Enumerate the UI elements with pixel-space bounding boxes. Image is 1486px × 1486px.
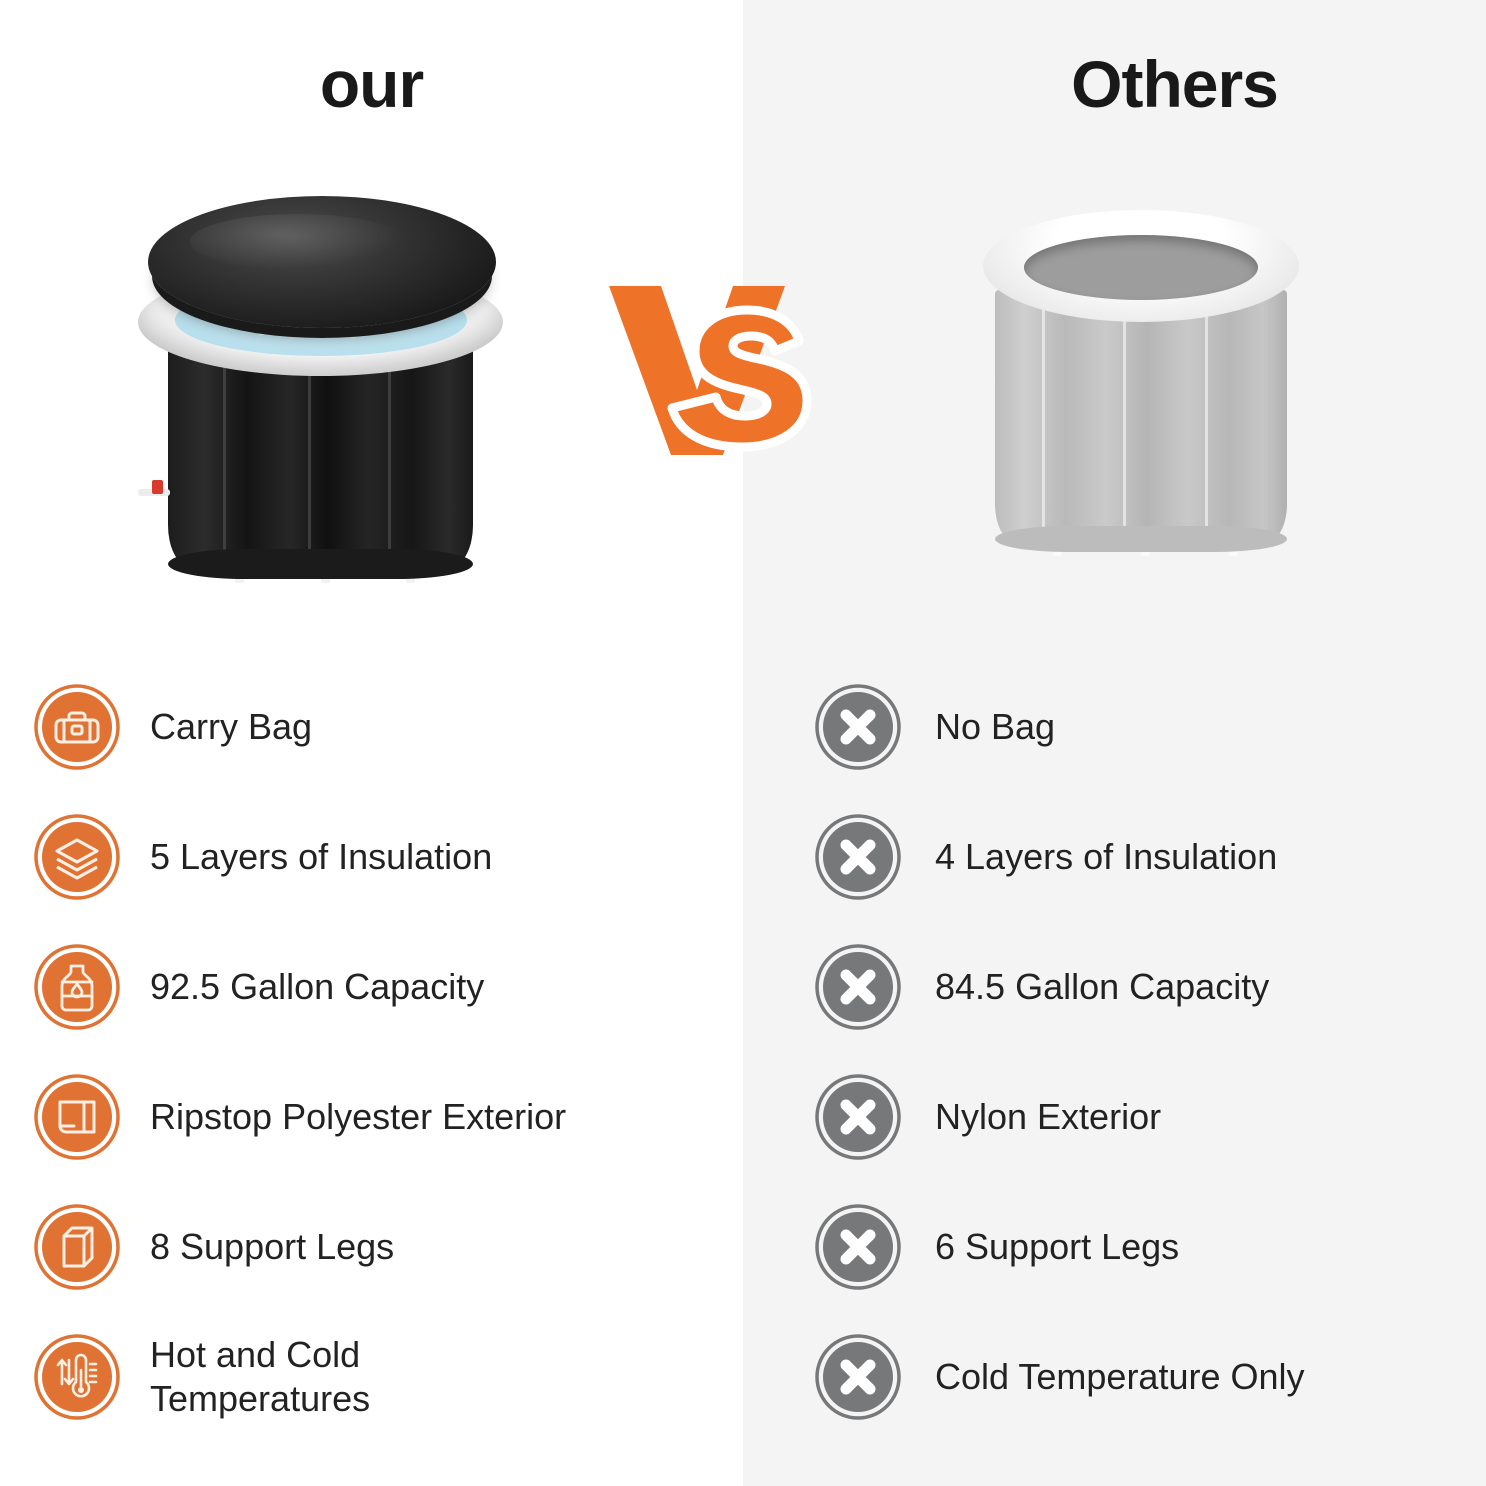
panel-ours: our [0,0,743,1486]
feature-list-ours: Carry Bag 5 Layers of Insulation [0,662,777,1442]
feature-label: 5 Layers of Insulation [150,835,492,879]
feature-row: No Bag [815,662,1486,792]
feature-label: No Bag [935,705,1055,749]
vs-badge [603,278,833,463]
feature-row: 5 Layers of Insulation [34,792,777,922]
feature-label: Hot and Cold Temperatures [150,1333,480,1421]
comparison-infographic: our [0,0,1486,1486]
cross-icon [815,944,901,1030]
feature-row: Hot and Cold Temperatures [34,1312,777,1442]
feature-label: 4 Layers of Insulation [935,835,1277,879]
feature-label: 6 Support Legs [935,1225,1179,1269]
panel-others: Others [743,0,1486,1486]
feature-label: Ripstop Polyester Exterior [150,1095,566,1139]
feature-row: 6 Support Legs [815,1182,1486,1312]
cross-icon [815,1074,901,1160]
layers-icon [34,814,120,900]
product-image-ours [120,180,520,610]
cross-icon [815,1204,901,1290]
feature-row: 92.5 Gallon Capacity [34,922,777,1052]
feature-label: 84.5 Gallon Capacity [935,965,1269,1009]
product-image-others [971,198,1311,598]
thermometer-icon [34,1334,120,1420]
tub-lid-ours [148,196,496,328]
water-jug-icon [34,944,120,1030]
support-leg-icon [34,1204,120,1290]
tub-rim-others [983,210,1299,322]
feature-row: Ripstop Polyester Exterior [34,1052,777,1182]
column-title-others: Others [743,48,1486,121]
feature-label: 92.5 Gallon Capacity [150,965,484,1009]
feature-label: 8 Support Legs [150,1225,394,1269]
feature-label: Carry Bag [150,705,312,749]
feature-label: Nylon Exterior [935,1095,1161,1139]
cross-icon [815,1334,901,1420]
fabric-roll-icon [34,1074,120,1160]
feature-row: 4 Layers of Insulation [815,792,1486,922]
drain-valve-icon [138,480,172,500]
feature-list-others: No Bag 4 Layers of Insulation [743,662,1486,1442]
product-stage-others [743,160,1486,640]
feature-row: 84.5 Gallon Capacity [815,922,1486,1052]
carry-bag-icon [34,684,120,770]
tub-body-others [995,290,1287,540]
feature-row: 8 Support Legs [34,1182,777,1312]
feature-row: Carry Bag [34,662,777,792]
cross-icon [815,684,901,770]
feature-row: Cold Temperature Only [815,1312,1486,1442]
feature-row: Nylon Exterior [815,1052,1486,1182]
feature-label: Cold Temperature Only [935,1355,1305,1399]
cross-icon [815,814,901,900]
